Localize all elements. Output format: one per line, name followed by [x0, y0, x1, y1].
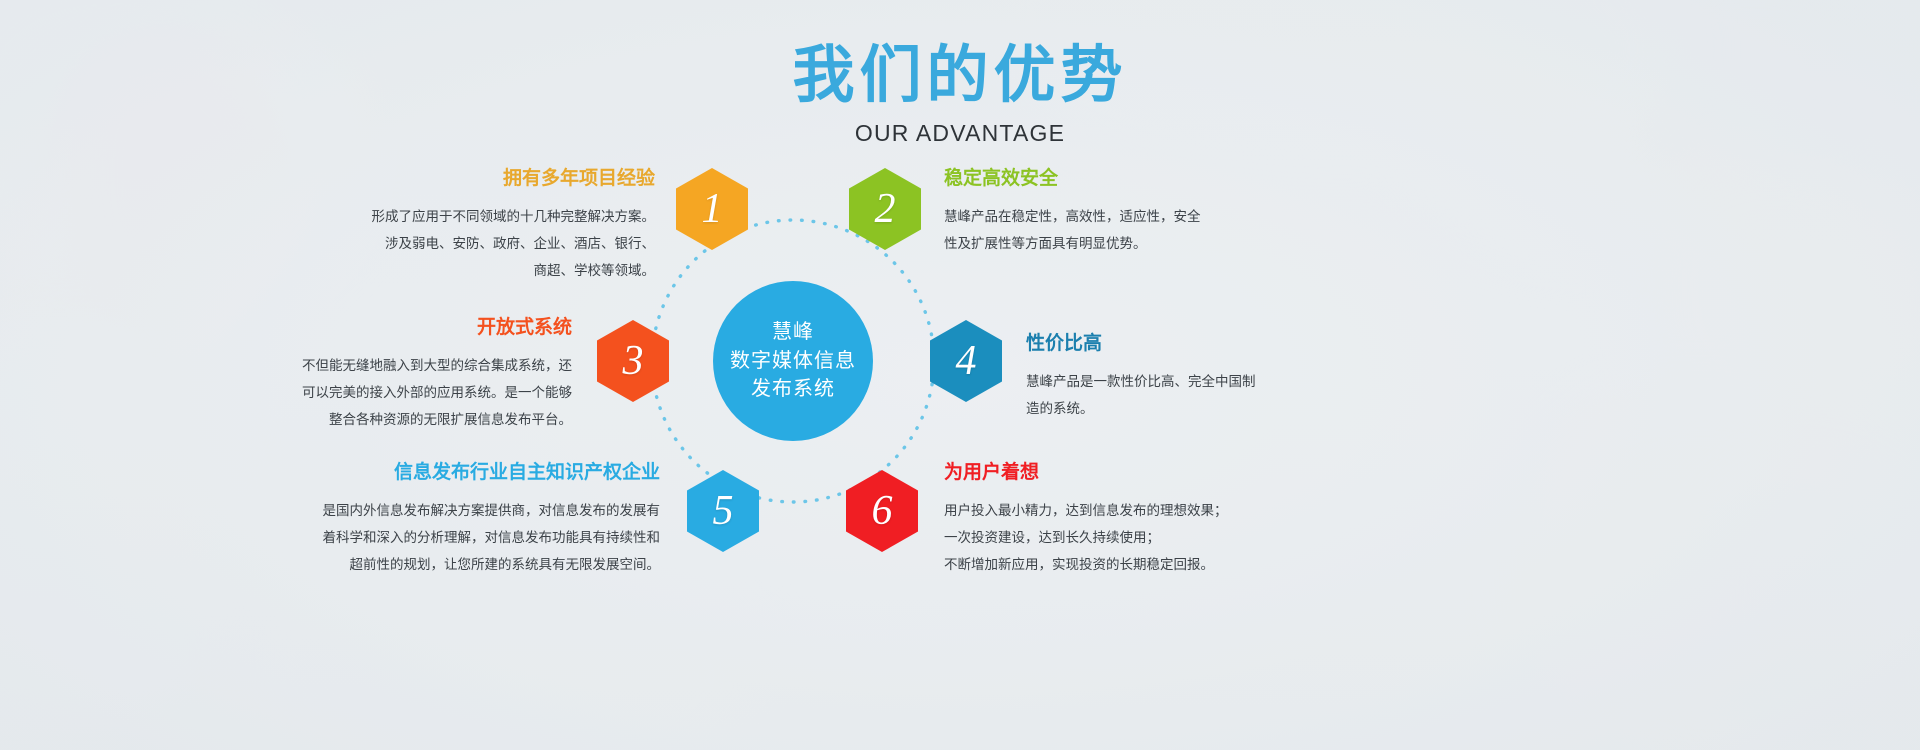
hex-badge-3[interactable]: 3 [597, 320, 669, 402]
item-4-body: 慧峰产品是一款性价比高、完全中国制 造的系统。 [1026, 368, 1366, 422]
item-3-heading: 开放式系统 [220, 317, 572, 340]
item-1-body: 形成了应用于不同领域的十几种完整解决方案。 涉及弱电、安防、政府、企业、酒店、银… [300, 203, 655, 284]
page-title: 我们的优势 [0, 44, 1920, 106]
hex-badge-4[interactable]: 4 [930, 320, 1002, 402]
advantage-item-6: 为用户着想 用户投入最小精力，达到信息发布的理想效果； 一次投资建设，达到长久持… [944, 462, 1324, 578]
item-5-line-2: 着科学和深入的分析理解，对信息发布功能具有持续性和 [240, 524, 660, 551]
advantage-item-5: 信息发布行业自主知识产权企业 是国内外信息发布解决方案提供商，对信息发布的发展有… [240, 462, 660, 578]
hex-number-3: 3 [623, 340, 644, 382]
item-4-line-2: 造的系统。 [1026, 395, 1366, 422]
page-header: 我们的优势 OUR ADVANTAGE [0, 44, 1920, 147]
advantage-item-4: 性价比高 慧峰产品是一款性价比高、完全中国制 造的系统。 [1026, 333, 1366, 422]
item-2-heading: 稳定高效安全 [944, 168, 1304, 191]
item-4-heading: 性价比高 [1026, 333, 1366, 356]
hex-number-2: 2 [875, 188, 896, 230]
item-3-line-3: 整合各种资源的无限扩展信息发布平台。 [220, 406, 572, 433]
advantage-infographic: 我们的优势 OUR ADVANTAGE 慧峰 数字媒体信息 发布系统 1 2 3… [0, 0, 1920, 750]
hex-number-4: 4 [956, 340, 977, 382]
item-4-line-1: 慧峰产品是一款性价比高、完全中国制 [1026, 368, 1366, 395]
item-3-line-2: 可以完美的接入外部的应用系统。是一个能够 [220, 379, 572, 406]
item-1-line-3: 商超、学校等领域。 [300, 257, 655, 284]
item-5-body: 是国内外信息发布解决方案提供商，对信息发布的发展有 着科学和深入的分析理解，对信… [240, 497, 660, 578]
center-line-2: 数字媒体信息 [730, 347, 856, 375]
hex-badge-5[interactable]: 5 [687, 470, 759, 552]
advantage-item-2: 稳定高效安全 慧峰产品在稳定性，高效性，适应性，安全 性及扩展性等方面具有明显优… [944, 168, 1304, 257]
hex-number-6: 6 [872, 490, 893, 532]
item-6-body: 用户投入最小精力，达到信息发布的理想效果； 一次投资建设，达到长久持续使用； 不… [944, 497, 1324, 578]
item-6-heading: 为用户着想 [944, 462, 1324, 485]
hex-badge-2[interactable]: 2 [849, 168, 921, 250]
page-subtitle: OUR ADVANTAGE [0, 120, 1920, 147]
advantage-item-1: 拥有多年项目经验 形成了应用于不同领域的十几种完整解决方案。 涉及弱电、安防、政… [300, 168, 655, 284]
center-line-3: 发布系统 [751, 375, 835, 403]
item-5-heading: 信息发布行业自主知识产权企业 [240, 462, 660, 485]
advantage-item-3: 开放式系统 不但能无缝地融入到大型的综合集成系统，还 可以完美的接入外部的应用系… [220, 317, 572, 433]
center-line-1: 慧峰 [772, 318, 814, 346]
hex-number-1: 1 [702, 188, 723, 230]
item-3-body: 不但能无缝地融入到大型的综合集成系统，还 可以完美的接入外部的应用系统。是一个能… [220, 352, 572, 433]
item-1-line-1: 形成了应用于不同领域的十几种完整解决方案。 [300, 203, 655, 230]
item-5-line-3: 超前性的规划，让您所建的系统具有无限发展空间。 [240, 551, 660, 578]
item-2-line-2: 性及扩展性等方面具有明显优势。 [944, 230, 1304, 257]
hex-badge-6[interactable]: 6 [846, 470, 918, 552]
item-6-line-1: 用户投入最小精力，达到信息发布的理想效果； [944, 497, 1324, 524]
item-1-heading: 拥有多年项目经验 [300, 168, 655, 191]
item-5-line-1: 是国内外信息发布解决方案提供商，对信息发布的发展有 [240, 497, 660, 524]
center-circle: 慧峰 数字媒体信息 发布系统 [713, 281, 873, 441]
hex-number-5: 5 [713, 490, 734, 532]
item-1-line-2: 涉及弱电、安防、政府、企业、酒店、银行、 [300, 230, 655, 257]
item-6-line-3: 不断增加新应用，实现投资的长期稳定回报。 [944, 551, 1324, 578]
item-3-line-1: 不但能无缝地融入到大型的综合集成系统，还 [220, 352, 572, 379]
item-6-line-2: 一次投资建设，达到长久持续使用； [944, 524, 1324, 551]
item-2-body: 慧峰产品在稳定性，高效性，适应性，安全 性及扩展性等方面具有明显优势。 [944, 203, 1304, 257]
hex-badge-1[interactable]: 1 [676, 168, 748, 250]
item-2-line-1: 慧峰产品在稳定性，高效性，适应性，安全 [944, 203, 1304, 230]
